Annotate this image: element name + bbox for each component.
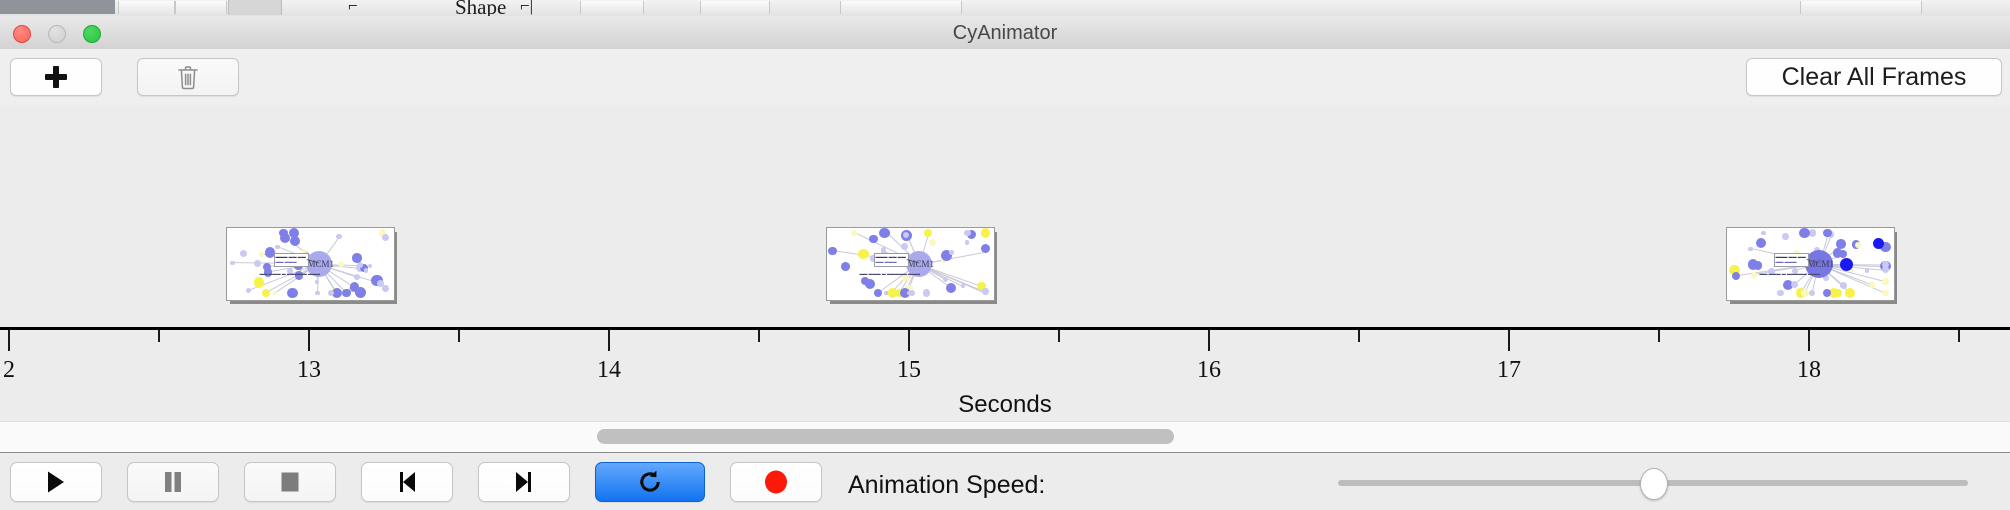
network-node (262, 289, 270, 297)
network-node (315, 291, 320, 296)
network-node (1754, 261, 1762, 269)
background-window-tile (118, 1, 175, 14)
axis-tick-minor (1058, 330, 1060, 342)
network-node (903, 232, 909, 238)
network-node (981, 228, 991, 238)
network-caption-text: ▬▬ ▬▬▬ ▬ ▬▬▬▬▬ ▬▬▬ (860, 271, 920, 276)
axis-tick-minor (458, 330, 460, 342)
axis-tick-minor (1658, 330, 1660, 342)
frame-thumbnail[interactable]: MCM1▬▬▬ ▬▬ ▬▬▬▬ ▬▬▬▬▬ ▬▬▬ ▬ ▬▬▬▬▬ ▬▬▬ (226, 227, 395, 301)
timeline-frame[interactable]: MCM1▬▬▬ ▬▬ ▬▬▬▬ ▬▬▬▬▬ ▬▬▬ ▬ ▬▬▬▬▬ ▬▬▬ (826, 227, 993, 299)
clear-all-frames-label: Clear All Frames (1782, 63, 1967, 92)
network-node (1782, 233, 1788, 239)
axis-tick-minor (1958, 330, 1960, 342)
network-node (1756, 238, 1766, 248)
stop-button[interactable] (244, 462, 336, 502)
network-node (1761, 231, 1765, 235)
network-node (1823, 229, 1831, 237)
background-window-shape-label: Shape (455, 0, 506, 17)
network-node (869, 235, 877, 243)
network-node (352, 253, 361, 262)
network-node (382, 285, 389, 292)
timeline-axis-title: Seconds (0, 391, 2010, 419)
background-window-tile (1800, 1, 1922, 14)
play-button[interactable] (10, 462, 102, 502)
record-icon (763, 469, 789, 495)
axis-tick-major (1808, 330, 1810, 351)
network-node (1840, 258, 1853, 271)
network-node (382, 234, 389, 241)
network-node (254, 277, 265, 288)
network-node (1791, 281, 1798, 288)
network-node (1732, 272, 1741, 281)
network-node (1873, 238, 1884, 249)
network-node (1865, 268, 1870, 273)
axis-tick-label: 16 (1197, 357, 1221, 384)
network-node (923, 289, 931, 297)
background-window-tile (700, 1, 770, 14)
network-node (342, 289, 351, 298)
network-node (879, 228, 890, 239)
loop-icon (637, 469, 663, 495)
animation-speed-slider-thumb[interactable] (1640, 468, 1668, 500)
network-node (1855, 242, 1861, 248)
network-callout-text: ▬▬ ▬▬▬ (1776, 259, 1797, 264)
network-node (302, 249, 306, 253)
axis-tick-major (908, 330, 910, 351)
record-button[interactable] (730, 462, 822, 502)
network-node (946, 283, 956, 293)
network-node (1836, 239, 1846, 249)
network-node (259, 252, 263, 256)
axis-tick-label: 13 (297, 357, 321, 384)
clear-all-frames-button[interactable]: Clear All Frames (1746, 58, 2002, 96)
network-node (949, 250, 954, 255)
network-node (290, 236, 300, 246)
network-node (929, 239, 936, 246)
network-callout-text: ▬▬ ▬▬▬ (276, 259, 297, 264)
network-node (355, 287, 366, 298)
network-node (354, 274, 360, 280)
network-node (1882, 290, 1889, 297)
network-node (1799, 228, 1810, 239)
add-frame-button[interactable] (10, 58, 102, 96)
axis-tick-label: 2 (3, 357, 15, 384)
frame-thumbnail[interactable]: MCM1▬▬▬ ▬▬ ▬▬▬▬ ▬▬▬▬▬ ▬▬▬ ▬ ▬▬▬▬▬ ▬▬▬ (1726, 227, 1895, 301)
axis-tick-major (1208, 330, 1210, 351)
next-frame-button[interactable] (478, 462, 570, 502)
network-node (961, 284, 965, 288)
network-node (254, 260, 261, 267)
timeline-scrollbar-track[interactable] (0, 421, 2010, 454)
network-node (828, 247, 837, 256)
network-node (1882, 266, 1889, 273)
timeline-axis-line (0, 327, 2010, 330)
background-window-tab (228, 0, 282, 15)
loop-button[interactable] (595, 462, 705, 502)
network-node (851, 230, 857, 236)
network-caption-text: ▬▬ ▬▬▬ ▬ ▬▬▬▬▬ ▬▬▬ (260, 271, 320, 276)
network-node (858, 249, 869, 260)
title-bar: CyAnimator (0, 16, 2010, 50)
skip-next-icon (513, 470, 535, 494)
network-node (1751, 272, 1757, 278)
background-window-strip: ⌐ ⌐| Shape (0, 0, 2010, 17)
network-node (1833, 248, 1842, 257)
network-node (315, 280, 319, 284)
cyanimator-window-root: ⌐ ⌐| Shape CyAnimator Clear Al (0, 0, 2010, 510)
axis-tick-label: 18 (1797, 357, 1821, 384)
network-node (1748, 247, 1753, 252)
network-node (901, 243, 908, 250)
timeline-frame[interactable]: MCM1▬▬▬ ▬▬ ▬▬▬▬ ▬▬▬▬▬ ▬▬▬ ▬ ▬▬▬▬▬ ▬▬▬ (1726, 227, 1893, 299)
background-window-tile (840, 1, 962, 14)
background-window-glyph: ⌐| (520, 0, 533, 16)
axis-tick-minor (158, 330, 160, 342)
axis-tick-label: 15 (897, 357, 921, 384)
network-caption-text: ▬▬ ▬▬▬ ▬ ▬▬▬▬▬ ▬▬▬ (1760, 271, 1820, 276)
network-node (273, 291, 277, 295)
network-node (275, 245, 279, 249)
axis-tick-major (608, 330, 610, 351)
network-node (983, 291, 987, 295)
network-node (338, 262, 343, 267)
frame-thumbnail[interactable]: MCM1▬▬▬ ▬▬ ▬▬▬▬ ▬▬▬▬▬ ▬▬▬ ▬ ▬▬▬▬▬ ▬▬▬ (826, 227, 995, 301)
pause-icon (162, 470, 184, 494)
skip-previous-icon (396, 470, 418, 494)
axis-tick-minor (1358, 330, 1360, 342)
axis-tick-label: 14 (597, 357, 621, 384)
network-node (1845, 288, 1855, 298)
timeline-scrollbar-thumb[interactable] (597, 429, 1174, 444)
timeline-panel[interactable]: MCM1▬▬▬ ▬▬ ▬▬▬▬ ▬▬▬▬▬ ▬▬▬ ▬ ▬▬▬▬▬ ▬▬▬MCM… (0, 105, 2010, 421)
axis-tick-label: 17 (1497, 357, 1521, 384)
axis-tick-major (8, 330, 10, 351)
trash-icon (177, 65, 199, 90)
axis-tick-major (1508, 330, 1510, 351)
playback-control-bar: Animation Speed: (0, 453, 2010, 510)
network-node (924, 229, 933, 238)
play-icon (45, 470, 67, 494)
pause-button[interactable] (127, 462, 219, 502)
delete-frame-button[interactable] (137, 58, 239, 96)
network-node (874, 289, 882, 297)
axis-tick-minor (758, 330, 760, 342)
network-node (280, 233, 290, 243)
timeline-frame[interactable]: MCM1▬▬▬ ▬▬ ▬▬▬▬ ▬▬▬▬▬ ▬▬▬ ▬ ▬▬▬▬▬ ▬▬▬ (226, 227, 393, 299)
background-window-tile (580, 1, 644, 14)
animation-speed-slider-track[interactable] (1338, 480, 1968, 486)
network-node (964, 230, 971, 237)
axis-tick-major (308, 330, 310, 351)
network-node (1869, 282, 1875, 288)
network-node (240, 250, 247, 257)
network-node (1882, 278, 1889, 285)
stop-icon (279, 471, 301, 493)
network-node (368, 264, 372, 268)
network-callout-text: ▬▬ ▬▬▬ (876, 259, 897, 264)
network-node (1809, 290, 1815, 296)
background-window-tile (175, 1, 227, 14)
network-node (841, 262, 850, 271)
network-node (246, 288, 251, 293)
network-node (287, 288, 298, 299)
network-node (981, 244, 991, 254)
previous-frame-button[interactable] (361, 462, 453, 502)
plus-icon (44, 65, 68, 89)
network-node (364, 268, 369, 273)
network-node (1777, 290, 1784, 297)
network-node (865, 279, 875, 289)
network-node (1834, 289, 1843, 298)
window-title: CyAnimator (0, 22, 2010, 45)
network-node (336, 234, 341, 239)
network-node (943, 277, 948, 282)
background-window-glyph: ⌐ (348, 0, 358, 16)
cyanimator-window: CyAnimator Clear All Frames MCM1▬▬▬ ▬▬ ▬… (0, 16, 2010, 510)
background-window-dark-panel (0, 0, 115, 14)
network-node (1801, 289, 1809, 297)
frame-toolbar: Clear All Frames (0, 49, 2010, 106)
network-node (965, 240, 970, 245)
network-node (230, 261, 234, 265)
animation-speed-label: Animation Speed: (848, 471, 1045, 500)
